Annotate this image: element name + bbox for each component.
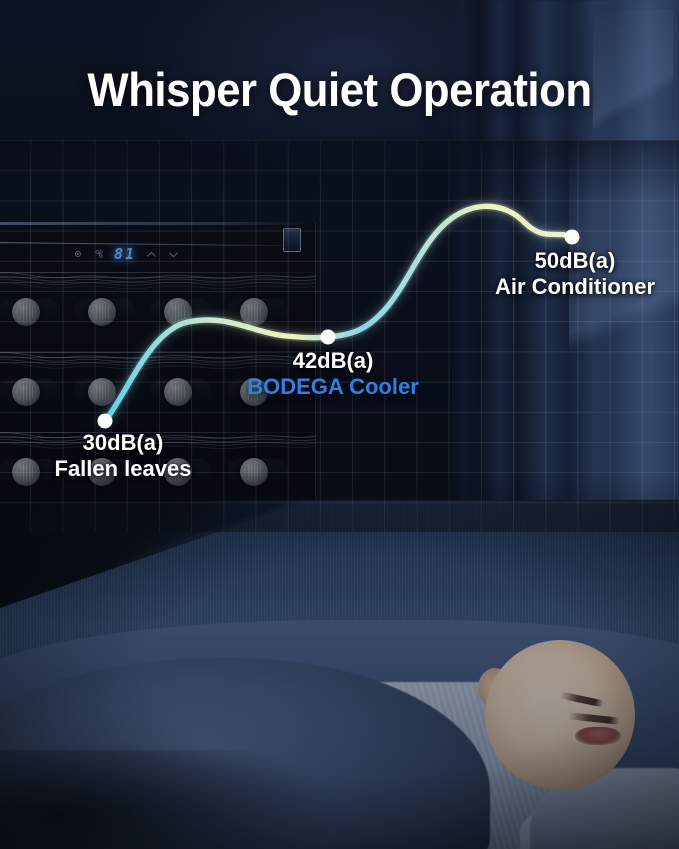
data-point-air-conditioner[interactable] (565, 230, 580, 245)
noise-curve-chart (0, 0, 679, 849)
annotation-value: 30dB(a) (18, 430, 228, 456)
annotation-air-conditioner: 50dB(a) Air Conditioner (470, 248, 679, 300)
annotation-bodega-cooler: 42dB(a) BODEGA Cooler (228, 348, 438, 400)
annotation-value: 50dB(a) (470, 248, 679, 274)
annotation-name: BODEGA Cooler (228, 374, 438, 400)
data-point-fallen-leaves[interactable] (98, 414, 113, 429)
data-point-bodega-cooler[interactable] (321, 330, 336, 345)
annotation-name: Air Conditioner (470, 274, 679, 300)
annotation-value: 42dB(a) (228, 348, 438, 374)
annotation-name: Fallen leaves (18, 456, 228, 482)
promo-banner: 81 Whisper Quiet Operation (0, 0, 679, 849)
annotation-fallen-leaves: 30dB(a) Fallen leaves (18, 430, 228, 482)
